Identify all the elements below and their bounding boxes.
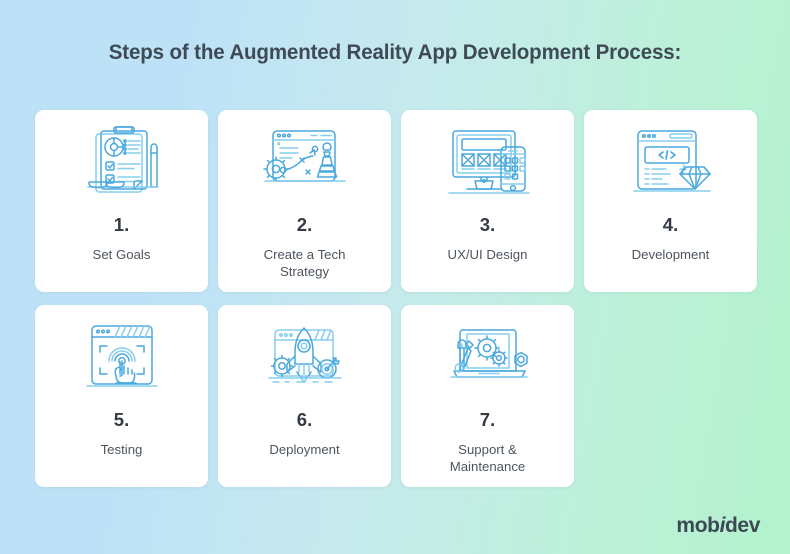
laptop-tools-icon (401, 319, 574, 397)
infographic-root: Steps of the Augmented Reality App Devel… (0, 0, 790, 554)
step-label: UX/UI Design (440, 246, 536, 264)
clipboard-checklist-icon (35, 124, 208, 202)
logo-part-3: dev (725, 514, 760, 537)
step-label: Deployment (261, 441, 347, 459)
step-card-6[interactable]: 6. Deployment (218, 305, 391, 487)
step-card-7[interactable]: 7. Support & Maintenance (401, 305, 574, 487)
step-card-3[interactable]: 3. UX/UI Design (401, 110, 574, 292)
step-number: 2. (297, 216, 312, 235)
step-card-4[interactable]: 4. Development (584, 110, 757, 292)
touch-target-icon (35, 319, 208, 397)
strategy-board-icon (218, 124, 391, 202)
step-number: 5. (114, 411, 129, 430)
step-card-5[interactable]: 5. Testing (35, 305, 208, 487)
rocket-launch-icon (218, 319, 391, 397)
mobidev-logo: mobidev (676, 514, 760, 538)
steps-row-2: 5. Testing (35, 305, 759, 487)
step-number: 6. (297, 411, 312, 430)
step-card-1[interactable]: 1. Set Goals (35, 110, 208, 292)
step-number: 7. (480, 411, 495, 430)
step-number: 1. (114, 216, 129, 235)
step-card-2[interactable]: 2. Create a Tech Strategy (218, 110, 391, 292)
page-title: Steps of the Augmented Reality App Devel… (18, 40, 772, 65)
step-label: Support & Maintenance (442, 441, 534, 476)
monitor-wireframe-icon (401, 124, 574, 202)
step-label: Development (624, 246, 718, 264)
steps-row-1: 1. Set Goals (35, 110, 759, 292)
step-number: 4. (663, 216, 678, 235)
step-label: Set Goals (85, 246, 159, 264)
code-window-gem-icon (584, 124, 757, 202)
logo-part-1: mob (676, 514, 719, 537)
step-label: Create a Tech Strategy (256, 246, 354, 281)
step-label: Testing (93, 441, 151, 459)
steps-grid: 1. Set Goals (35, 110, 759, 487)
step-number: 3. (480, 216, 495, 235)
